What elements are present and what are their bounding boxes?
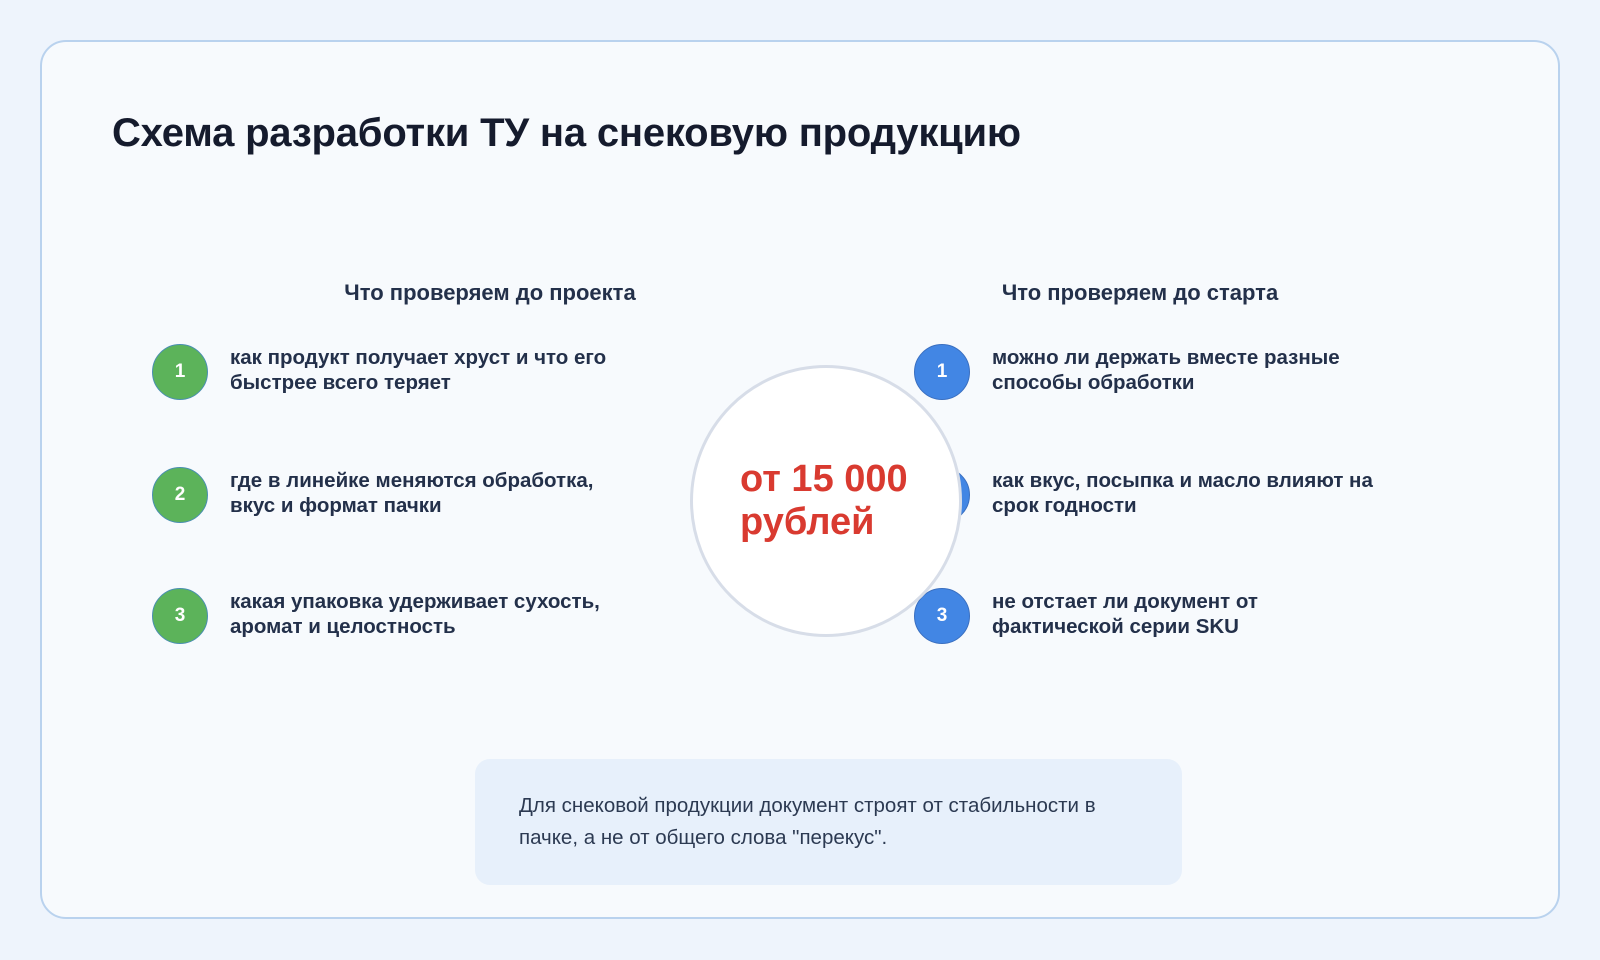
list-item-label: можно ли держать вместе разные способы о… bbox=[992, 341, 1382, 395]
infographic-card: Схема разработки ТУ на снековую продукци… bbox=[40, 40, 1560, 919]
page-title: Схема разработки ТУ на снековую продукци… bbox=[112, 108, 1092, 159]
step-badge: 3 bbox=[152, 588, 208, 644]
note-text: Для снековой продукции документ строят о… bbox=[475, 790, 1182, 855]
list-item-label: где в линейке меняются обработка, вкус и… bbox=[230, 464, 630, 518]
list-item: 2 как вкус, посыпка и масло влияют на ср… bbox=[914, 464, 1382, 523]
step-badge: 1 bbox=[914, 344, 970, 400]
list-item-label: не отстает ли документ от фактической се… bbox=[992, 585, 1382, 639]
step-badge: 2 bbox=[152, 467, 208, 523]
list-item-label: какая упаковка удерживает сухость, арома… bbox=[230, 585, 630, 639]
list-item: 1 можно ли держать вместе разные способы… bbox=[914, 341, 1382, 400]
price-label: от 15 000 рублей bbox=[740, 458, 912, 543]
note-box: Для снековой продукции документ строят о… bbox=[475, 759, 1182, 885]
step-badge: 1 bbox=[152, 344, 208, 400]
left-column-heading: Что проверяем до проекта bbox=[220, 280, 760, 306]
list-item: 3 какая упаковка удерживает сухость, аро… bbox=[152, 585, 630, 644]
list-item-label: как продукт получает хруст и что его быс… bbox=[230, 341, 630, 395]
list-item: 2 где в линейке меняются обработка, вкус… bbox=[152, 464, 630, 523]
right-column-heading: Что проверяем до старта bbox=[870, 280, 1410, 306]
price-circle: от 15 000 рублей bbox=[690, 365, 962, 637]
infographic-page: Схема разработки ТУ на снековую продукци… bbox=[0, 0, 1600, 960]
list-item: 1 как продукт получает хруст и что его б… bbox=[152, 341, 630, 400]
list-item-label: как вкус, посыпка и масло влияют на срок… bbox=[992, 464, 1382, 518]
list-item: 3 не отстает ли документ от фактической … bbox=[914, 585, 1382, 644]
